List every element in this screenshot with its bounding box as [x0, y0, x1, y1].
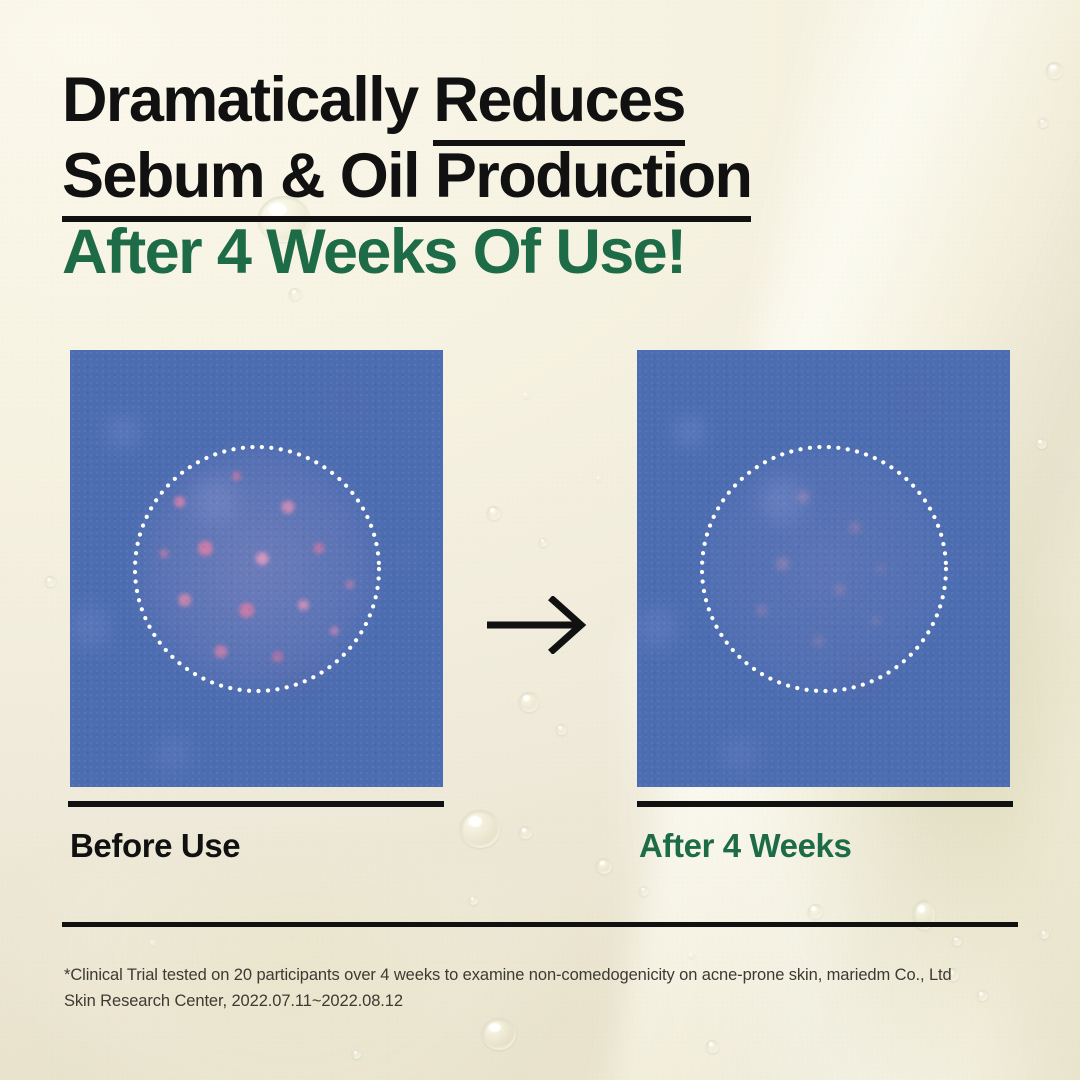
- dotted-measurement-circle: [130, 442, 384, 696]
- ad-creative-canvas: Dramatically Reduces Sebum & Oil Product…: [0, 0, 1080, 1080]
- droplet: [639, 886, 649, 896]
- droplet: [1038, 118, 1048, 128]
- droplet: [1046, 62, 1063, 79]
- droplet: [596, 476, 602, 482]
- droplet: [596, 858, 612, 874]
- droplet: [352, 1050, 361, 1059]
- headline-line-1-plain: Dramatically: [62, 65, 433, 135]
- droplet: [469, 896, 478, 905]
- droplet: [688, 952, 695, 959]
- droplet: [539, 538, 548, 547]
- clinical-trial-footnote: *Clinical Trial tested on 20 participant…: [64, 962, 964, 1014]
- after-caption-label: After 4 Weeks: [639, 824, 851, 868]
- after-image-panel: [637, 350, 1010, 787]
- droplet: [482, 1018, 516, 1050]
- droplet: [1040, 930, 1049, 939]
- headline-block: Dramatically Reduces Sebum & Oil Product…: [62, 62, 942, 290]
- headline-line-1-underlined: Reduces: [433, 62, 684, 138]
- droplet: [952, 936, 962, 946]
- after-caption-rule: [637, 801, 1013, 807]
- headline-line-2-underlined: Sebum & Oil Production: [62, 138, 751, 214]
- dotted-measurement-circle: [697, 442, 951, 696]
- droplet: [519, 692, 539, 712]
- droplet: [1036, 438, 1047, 449]
- droplet: [460, 810, 500, 848]
- before-caption-label: Before Use: [70, 824, 240, 868]
- before-image-panel: [70, 350, 443, 787]
- droplet: [150, 940, 156, 946]
- before-caption-rule: [68, 801, 444, 807]
- headline-line-3: After 4 Weeks Of Use!: [62, 214, 942, 290]
- droplet: [977, 990, 988, 1001]
- arrow-right-icon: [487, 596, 593, 654]
- headline-line-1: Dramatically Reduces: [62, 62, 942, 138]
- droplet: [45, 576, 56, 587]
- droplet: [519, 826, 532, 839]
- droplet: [556, 724, 567, 735]
- footer-divider: [62, 922, 1018, 927]
- droplet: [523, 392, 530, 399]
- headline-line-2: Sebum & Oil Production: [62, 138, 942, 214]
- droplet: [808, 904, 823, 919]
- droplet: [706, 1040, 719, 1053]
- droplet: [487, 506, 501, 520]
